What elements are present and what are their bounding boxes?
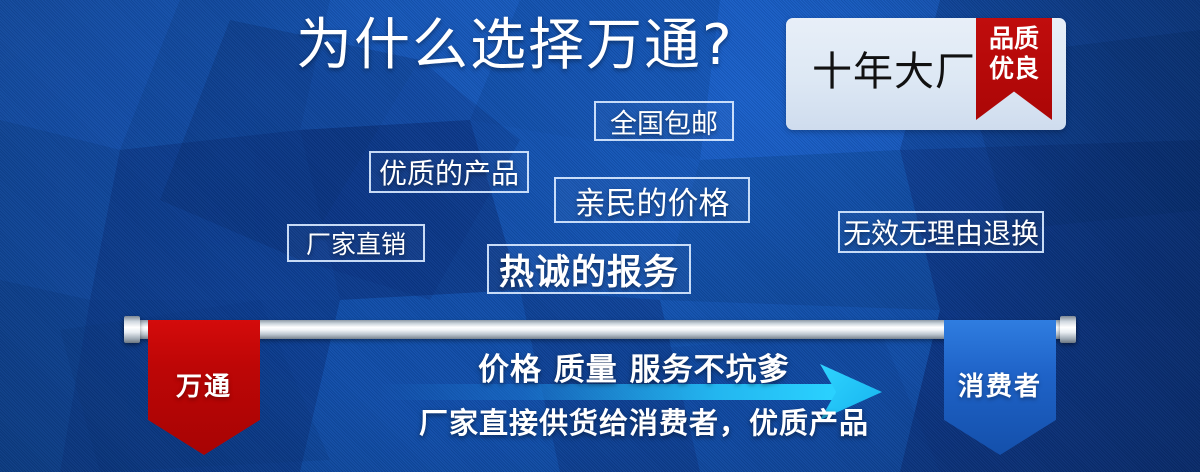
- feature-tag-recheng-baowu: 热诚的报务: [487, 244, 691, 294]
- feature-tag-quanguo-baoyou: 全国包邮: [594, 101, 734, 141]
- quality-panel: 十年大厂 品质 优良: [786, 18, 1066, 130]
- promo-banner: 为什么选择万通? 十年大厂 品质 优良 全国包邮 优质的产品 亲民的价格 无效无…: [0, 0, 1200, 472]
- promo-line-primary: 价格 质量 服务不坑爹: [478, 352, 790, 388]
- feature-tag-youzhi-chanpin: 优质的产品: [369, 151, 529, 193]
- feature-tag-qinmin-jiage: 亲民的价格: [554, 177, 750, 223]
- rod-cap-right: [1060, 316, 1076, 343]
- ribbon-line-1: 品质: [976, 25, 1052, 53]
- promo-line-secondary: 厂家直接供货给消费者，优质产品: [419, 406, 869, 440]
- banner-rod: [125, 320, 1075, 339]
- quality-panel-label: 十年大厂: [812, 48, 976, 96]
- feature-tag-changjia-zhixiao: 厂家直销: [287, 224, 425, 262]
- feature-tag-wuxiao-tuihuan: 无效无理由退换: [838, 211, 1044, 253]
- flag-target-label: 消费者: [958, 366, 1042, 403]
- rod-cap-left: [124, 316, 140, 343]
- flag-source-label: 万通: [176, 366, 232, 403]
- quality-ribbon: 品质 优良: [976, 18, 1052, 120]
- page-title: 为什么选择万通?: [296, 14, 734, 78]
- ribbon-line-2: 优良: [976, 55, 1052, 83]
